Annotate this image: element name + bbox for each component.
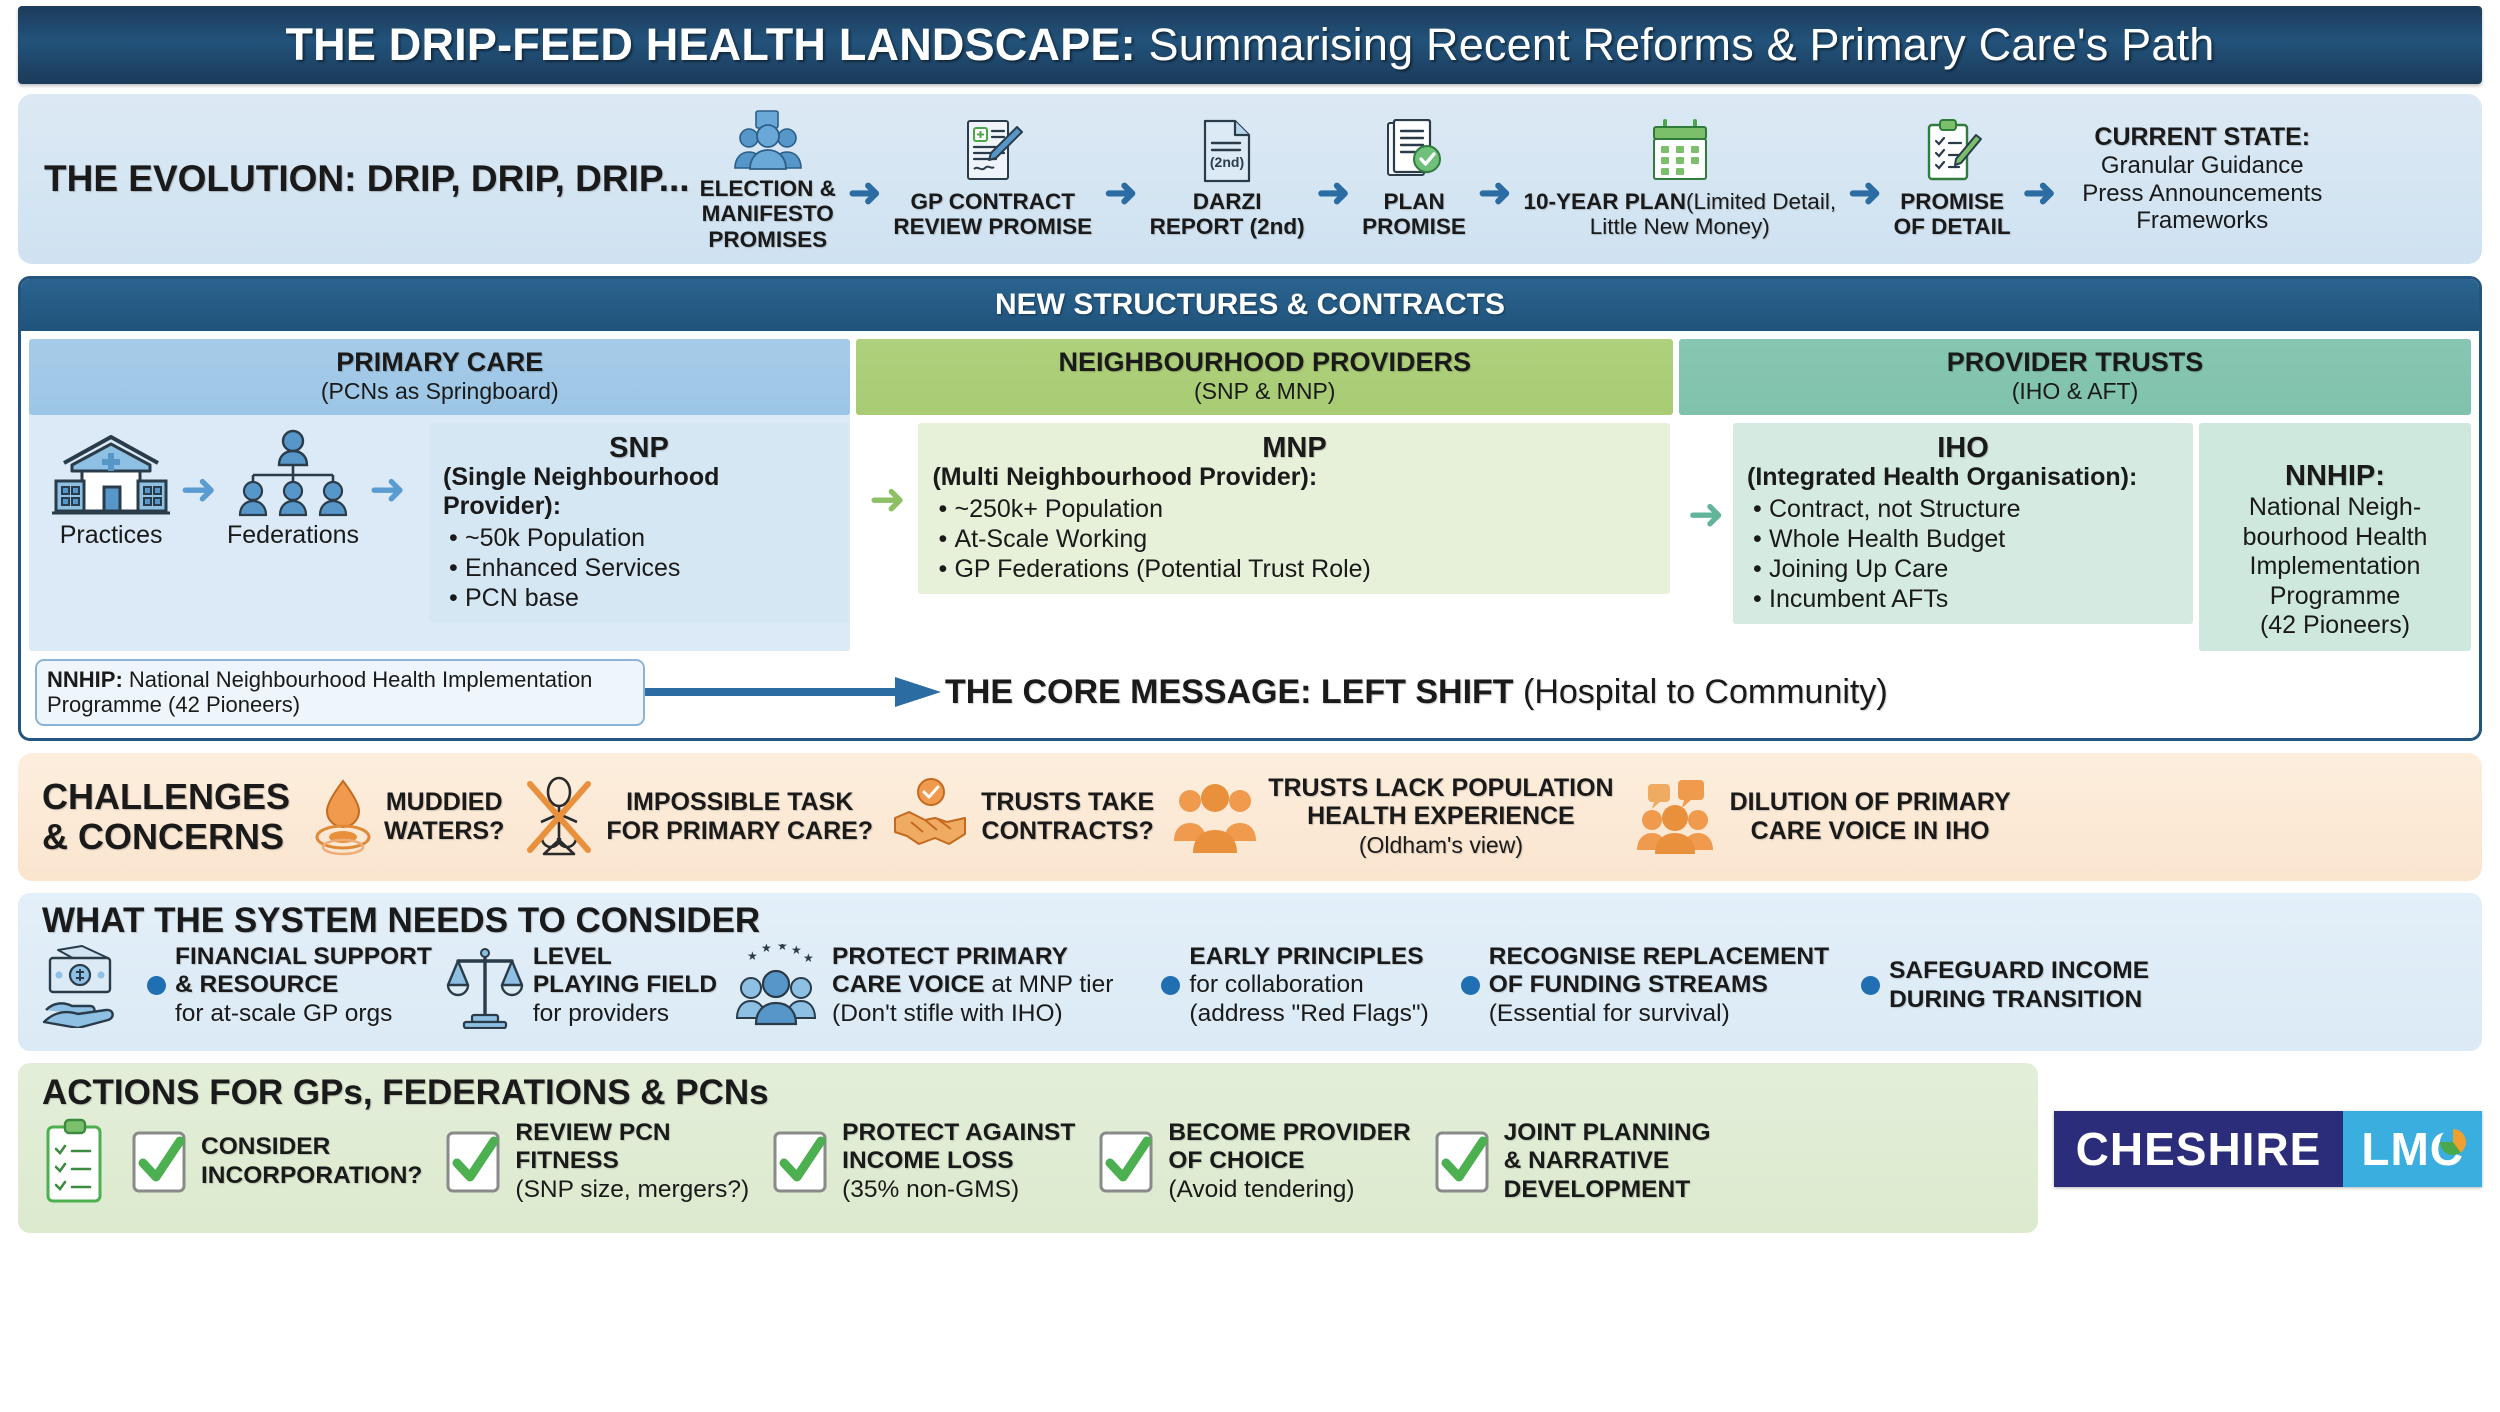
page-header: THE DRIP-FEED HEALTH LANDSCAPE: Summaris…: [18, 6, 2482, 84]
action-item-review-pcn-fitness: REVIEW PCN FITNESS (SNP size, mergers?): [444, 1119, 749, 1205]
svg-text:★: ★: [777, 944, 788, 953]
list-item: ~50k Population: [443, 523, 835, 553]
column-subtitle: (SNP & MNP): [860, 378, 1669, 405]
consider-label: SAFEGUARD INCOME DURING TRANSITION: [1889, 957, 2149, 1014]
action-label-rest: (35% non-GMS): [842, 1176, 1019, 1203]
challenge-item-trusts-take-contracts: TRUSTS TAKE CONTRACTS?: [891, 778, 1154, 856]
list-item: ~250k+ Population: [932, 494, 1656, 524]
arrow-right-icon: ➜: [369, 468, 406, 512]
list-item: Incumbent AFTs: [1747, 584, 2179, 614]
consider-label: FINANCIAL SUPPORT & RESOURCE for at-scal…: [175, 943, 432, 1028]
snp-bullet-list: ~50k Population Enhanced Services PCN ba…: [443, 523, 835, 613]
svg-text:★: ★: [791, 944, 802, 957]
new-structures-heading: NEW STRUCTURES & CONTRACTS: [21, 279, 2479, 331]
evolution-step-gp-contract: GP CONTRACT REVIEW PROMISE: [893, 119, 1092, 239]
flow-label-practices: Practices: [60, 521, 163, 550]
iho-bullet-list: Contract, not Structure Whole Health Bud…: [1747, 494, 2179, 614]
consider-item-early-principles: EARLY PRINCIPLES for collaboration (addr…: [1161, 943, 1428, 1028]
consider-title: WHAT THE SYSTEM NEEDS TO CONSIDER: [42, 901, 2458, 941]
action-item-consider-incorporation: CONSIDER INCORPORATION?: [130, 1129, 422, 1195]
crossed-out-person-icon: [522, 776, 596, 858]
arrow-right-icon: ➜: [840, 170, 890, 216]
mnp-subtitle: (Multi Neighbourhood Provider):: [932, 463, 1656, 492]
consider-item-safeguard-income: SAFEGUARD INCOME DURING TRANSITION: [1861, 957, 2149, 1014]
current-state-title: CURRENT STATE:: [2082, 123, 2322, 152]
nnhip-title: NNHIP:: [2213, 461, 2457, 491]
action-label-bold: JOINT PLANNING & NARRATIVE DEVELOPMENT: [1504, 1119, 1711, 1203]
current-state-lines: Granular Guidance Press Announcements Fr…: [2082, 152, 2322, 235]
logo-text-cheshire: CHESHIRE: [2054, 1111, 2344, 1187]
consider-label: EARLY PRINCIPLES for collaboration (addr…: [1189, 943, 1428, 1028]
column-title: PRIMARY CARE: [33, 347, 846, 378]
list-item: PCN base: [443, 583, 835, 613]
actions-items-row: CONSIDER INCORPORATION? REVIEW PCN FITNE…: [42, 1117, 2014, 1207]
bullet-dot-icon: [1161, 976, 1180, 995]
people-stars-icon: ★★★★★: [731, 944, 823, 1028]
consider-item-financial-support: FINANCIAL SUPPORT & RESOURCE for at-scal…: [42, 943, 432, 1028]
challenge-label-sub: (Oldham's view): [1359, 832, 1523, 858]
page-title-bold: THE DRIP-FEED HEALTH LANDSCAPE:: [285, 19, 1135, 70]
clipboard-pencil-icon: [1921, 119, 1983, 185]
new-structures-section: NEW STRUCTURES & CONTRACTS PRIMARY CARE …: [18, 276, 2482, 741]
primary-care-flow: Practices ➜: [29, 415, 429, 550]
arrow-right-icon: ➜: [1470, 170, 1520, 216]
actions-section: ACTIONS FOR GPs, FEDERATIONS & PCNs: [18, 1063, 2038, 1233]
arrow-right-icon: ➜: [180, 468, 217, 512]
arrow-right-icon: ➜: [2015, 170, 2065, 216]
column-provider-trusts: PROVIDER TRUSTS (IHO & AFT) ➜ IHO (Integ…: [1679, 339, 2471, 651]
consider-label-bold: FINANCIAL SUPPORT & RESOURCE: [175, 943, 432, 998]
nnhip-note-text: National Neighbourhood Health Implementa…: [47, 667, 592, 717]
nnhip-box: NNHIP: National Neigh- bourhood Health I…: [2199, 423, 2471, 651]
snp-box: SNP (Single Neighbourhood Provider): ~50…: [429, 423, 849, 623]
action-label-bold: BECOME PROVIDER OF CHOICE: [1168, 1119, 1410, 1175]
evolution-step-label: ELECTION & MANIFESTO PROMISES: [700, 176, 836, 252]
plan-check-icon: [1384, 119, 1444, 185]
snp-title: SNP: [443, 433, 835, 463]
evolution-step-10-year-plan: 10-YEAR PLAN(Limited Detail, Little New …: [1523, 119, 1836, 239]
challenge-label: DILUTION OF PRIMARY CARE VOICE IN IHO: [1730, 788, 2011, 845]
column-title: PROVIDER TRUSTS: [1683, 347, 2467, 378]
contract-pen-icon: [962, 119, 1024, 185]
logo-swoosh-icon: [2440, 1129, 2466, 1155]
list-item: GP Federations (Potential Trust Role): [932, 554, 1656, 584]
column-header-primary-care: PRIMARY CARE (PCNs as Springboard): [29, 339, 850, 415]
snp-subtitle: (Single Neighbourhood Provider):: [443, 463, 835, 521]
evolution-step-label: DARZI REPORT (2nd): [1150, 189, 1305, 239]
action-label: JOINT PLANNING & NARRATIVE DEVELOPMENT: [1504, 1119, 1711, 1205]
evolution-band: THE EVOLUTION: DRIP, DRIP, DRIP... ELECT…: [18, 94, 2482, 264]
action-label-bold: CONSIDER INCORPORATION?: [201, 1133, 422, 1189]
consider-label: LEVEL PLAYING FIELD for providers: [533, 943, 717, 1028]
evolution-step-promise-of-detail: PROMISE OF DETAIL: [1894, 119, 2011, 239]
evolution-step-label-main: 10-YEAR PLAN: [1523, 189, 1686, 214]
challenges-title: CHALLENGES & CONCERNS: [42, 777, 290, 856]
core-message-bold: THE CORE MESSAGE: LEFT SHIFT: [945, 673, 1514, 711]
clipboard-checklist-icon: [42, 1117, 108, 1207]
evolution-step-label: PROMISE OF DETAIL: [1894, 189, 2011, 239]
list-item: Enhanced Services: [443, 553, 835, 583]
column-header-neighbourhood: NEIGHBOURHOOD PROVIDERS (SNP & MNP): [856, 339, 1673, 415]
nnhip-note-label: NNHIP:: [47, 667, 123, 692]
document-2nd-icon: (2nd): [1199, 119, 1255, 185]
list-item: Joining Up Care: [1747, 554, 2179, 584]
column-subtitle: (IHO & AFT): [1683, 378, 2467, 405]
current-state-block: CURRENT STATE: Granular Guidance Press A…: [2082, 123, 2322, 235]
evolution-step-election: ELECTION & MANIFESTO PROMISES: [700, 106, 836, 252]
challenge-item-trusts-lack-population-health: TRUSTS LACK POPULATION HEALTH EXPERIENCE…: [1172, 774, 1613, 860]
action-label: REVIEW PCN FITNESS (SNP size, mergers?): [515, 1119, 749, 1205]
challenge-label-main: TRUSTS LACK POPULATION HEALTH EXPERIENCE: [1268, 774, 1613, 831]
mnp-title: MNP: [932, 433, 1656, 463]
iho-subtitle: (Integrated Health Organisation):: [1747, 463, 2179, 492]
evolution-step-darzi: (2nd) DARZI REPORT (2nd): [1150, 119, 1305, 239]
consider-label-rest: (Essential for survival): [1489, 1000, 1730, 1027]
people-speech-icon: [1632, 778, 1720, 856]
cheshire-lmc-logo: CHESHIRE LMC: [2054, 1111, 2482, 1187]
list-item: Whole Health Budget: [1747, 524, 2179, 554]
column-primary-care: PRIMARY CARE (PCNs as Springboard): [29, 339, 850, 651]
consider-label: PROTECT PRIMARY CARE VOICE at MNP tier (…: [832, 943, 1113, 1028]
check-box-icon: [771, 1129, 831, 1195]
challenge-label: MUDDIED WATERS?: [384, 788, 504, 845]
mnp-box: MNP (Multi Neighbourhood Provider): ~250…: [918, 423, 1670, 594]
check-box-icon: [130, 1129, 190, 1195]
clinic-building-icon: [52, 429, 170, 519]
check-box-icon: [1097, 1129, 1157, 1195]
scales-icon: [446, 943, 524, 1029]
action-item-protect-against-income-loss: PROTECT AGAINST INCOME LOSS (35% non-GMS…: [771, 1119, 1075, 1205]
action-label: CONSIDER INCORPORATION?: [201, 1133, 422, 1190]
column-subtitle: (PCNs as Springboard): [33, 378, 846, 405]
action-label-rest: (SNP size, mergers?): [515, 1176, 749, 1203]
water-drop-icon: [312, 777, 374, 857]
arrow-right-icon: ➜: [1096, 170, 1146, 216]
column-header-provider-trusts: PROVIDER TRUSTS (IHO & AFT): [1679, 339, 2471, 415]
flow-label-federations: Federations: [227, 521, 359, 550]
consider-label-bold: LEVEL PLAYING FIELD: [533, 943, 717, 998]
bullet-dot-icon: [1861, 976, 1880, 995]
action-item-become-provider-of-choice: BECOME PROVIDER OF CHOICE (Avoid tenderi…: [1097, 1119, 1410, 1205]
action-label-rest: (Avoid tendering): [1168, 1176, 1354, 1203]
check-box-icon: [444, 1129, 504, 1195]
arrow-right-icon: ➜: [1840, 170, 1890, 216]
people-group-icon: [729, 106, 807, 172]
flow-item-federations: Federations: [227, 429, 359, 550]
challenge-label: TRUSTS LACK POPULATION HEALTH EXPERIENCE…: [1268, 774, 1613, 860]
consider-label-rest: for providers: [533, 1000, 669, 1027]
action-label: PROTECT AGAINST INCOME LOSS (35% non-GMS…: [842, 1119, 1075, 1205]
core-message-rest: (Hospital to Community): [1514, 673, 1888, 711]
nnhip-body: National Neigh- bourhood Health Implemen…: [2213, 493, 2457, 641]
money-hand-icon: [42, 944, 138, 1028]
federation-org-icon: [229, 429, 357, 519]
challenges-band: CHALLENGES & CONCERNS MUDDIED WATERS?: [18, 753, 2482, 881]
iho-title: IHO: [1747, 433, 2179, 463]
column-title: NEIGHBOURHOOD PROVIDERS: [860, 347, 1669, 378]
evolution-step-label: GP CONTRACT REVIEW PROMISE: [893, 189, 1092, 239]
list-item: Contract, not Structure: [1747, 494, 2179, 524]
action-item-joint-planning: JOINT PLANNING & NARRATIVE DEVELOPMENT: [1433, 1119, 1711, 1205]
page-title: THE DRIP-FEED HEALTH LANDSCAPE: Summaris…: [285, 19, 2214, 71]
column-neighbourhood-providers: NEIGHBOURHOOD PROVIDERS (SNP & MNP) ➜ MN…: [856, 339, 1673, 651]
consider-item-protect-primary-care-voice: ★★★★★ PROTECT PRIMARY CARE VOICE at MNP …: [731, 943, 1113, 1028]
consider-label-rest: for at-scale GP orgs: [175, 1000, 392, 1027]
consider-label-rest: for collaboration (address "Red Flags"): [1189, 971, 1428, 1026]
consider-item-level-playing-field: LEVEL PLAYING FIELD for providers: [446, 943, 717, 1029]
people-group-icon: [1172, 779, 1258, 855]
consider-item-recognise-replacement: RECOGNISE REPLACEMENT OF FUNDING STREAMS…: [1461, 943, 1829, 1028]
evolution-step-label: 10-YEAR PLAN(Limited Detail, Little New …: [1523, 189, 1836, 239]
challenge-item-muddied-waters: MUDDIED WATERS?: [312, 777, 504, 857]
consider-label: RECOGNISE REPLACEMENT OF FUNDING STREAMS…: [1489, 943, 1829, 1028]
mnp-bullet-list: ~250k+ Population At-Scale Working GP Fe…: [932, 494, 1656, 584]
consider-label-bold: EARLY PRINCIPLES: [1189, 943, 1423, 970]
action-label-bold: REVIEW PCN FITNESS: [515, 1119, 670, 1175]
long-arrow-right-icon: [645, 675, 945, 709]
svg-text:★: ★: [747, 949, 758, 963]
actions-row-wrapper: ACTIONS FOR GPs, FEDERATIONS & PCNs: [18, 1063, 2482, 1233]
logo-text-lmc: LMC: [2343, 1111, 2482, 1187]
svg-text:★: ★: [803, 951, 814, 965]
arrow-right-icon: ➜: [869, 478, 906, 522]
bullet-dot-icon: [147, 976, 166, 995]
handshake-check-icon: [891, 778, 971, 856]
consider-items-row: FINANCIAL SUPPORT & RESOURCE for at-scal…: [42, 943, 2458, 1029]
action-label: BECOME PROVIDER OF CHOICE (Avoid tenderi…: [1168, 1119, 1410, 1205]
nnhip-note: NNHIP: National Neighbourhood Health Imp…: [35, 659, 645, 726]
consider-section: WHAT THE SYSTEM NEEDS TO CONSIDER FINAN: [18, 893, 2482, 1051]
svg-text:★: ★: [761, 944, 772, 955]
challenge-label: IMPOSSIBLE TASK FOR PRIMARY CARE?: [606, 788, 873, 845]
challenge-label: TRUSTS TAKE CONTRACTS?: [981, 788, 1154, 845]
page-title-rest: Summarising Recent Reforms & Primary Car…: [1136, 19, 2215, 70]
check-box-icon: [1433, 1129, 1493, 1195]
calendar-icon: [1649, 119, 1711, 185]
infographic-page: THE DRIP-FEED HEALTH LANDSCAPE: Summaris…: [0, 6, 2500, 1412]
bullet-dot-icon: [1461, 976, 1480, 995]
new-structures-body: PRIMARY CARE (PCNs as Springboard): [21, 331, 2479, 659]
flow-item-practices: Practices: [52, 429, 170, 550]
actions-title: ACTIONS FOR GPs, FEDERATIONS & PCNs: [42, 1073, 2014, 1113]
consider-label-bold: RECOGNISE REPLACEMENT OF FUNDING STREAMS: [1489, 943, 1829, 998]
arrow-right-icon: ➜: [1309, 170, 1359, 216]
list-item: At-Scale Working: [932, 524, 1656, 554]
evolution-title: THE EVOLUTION: DRIP, DRIP, DRIP...: [44, 158, 690, 199]
arrow-right-icon: ➜: [1688, 493, 1725, 537]
iho-box: IHO (Integrated Health Organisation): Co…: [1733, 423, 2193, 624]
core-message: THE CORE MESSAGE: LEFT SHIFT (Hospital t…: [945, 673, 1888, 712]
evolution-step-label: PLAN PROMISE: [1362, 189, 1466, 239]
challenge-item-dilution-of-voice: DILUTION OF PRIMARY CARE VOICE IN IHO: [1632, 778, 2011, 856]
challenge-item-impossible-task: IMPOSSIBLE TASK FOR PRIMARY CARE?: [522, 776, 873, 858]
evolution-step-plan-promise: PLAN PROMISE: [1362, 119, 1466, 239]
svg-text:(2nd): (2nd): [1210, 154, 1244, 170]
consider-label-bold: SAFEGUARD INCOME DURING TRANSITION: [1889, 957, 2149, 1012]
action-label-bold: PROTECT AGAINST INCOME LOSS: [842, 1119, 1075, 1175]
